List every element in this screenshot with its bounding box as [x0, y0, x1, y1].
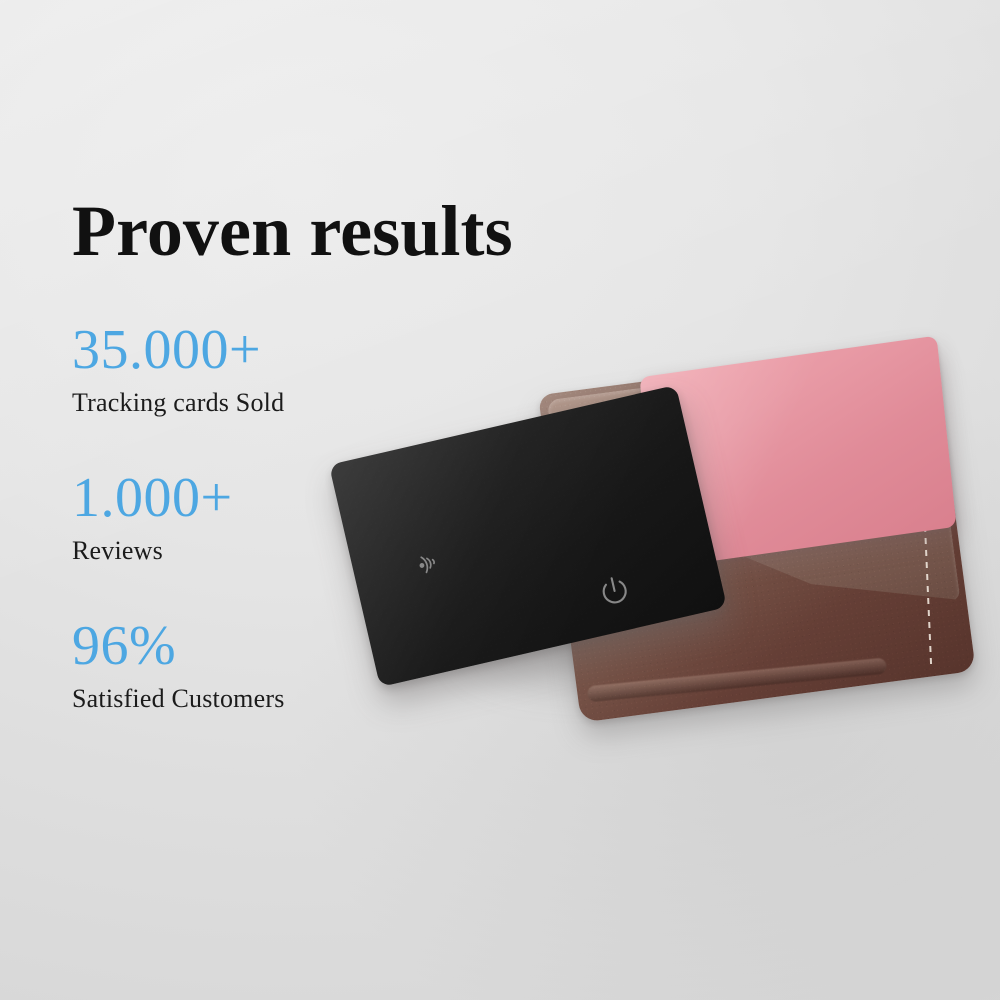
page-title: Proven results — [72, 194, 513, 269]
nfc-contactless-icon — [404, 537, 455, 588]
proven-results-section: Proven results 35.000+ Tracking cards So… — [0, 0, 1000, 1000]
product-photo — [330, 330, 1000, 750]
power-icon — [593, 570, 636, 613]
